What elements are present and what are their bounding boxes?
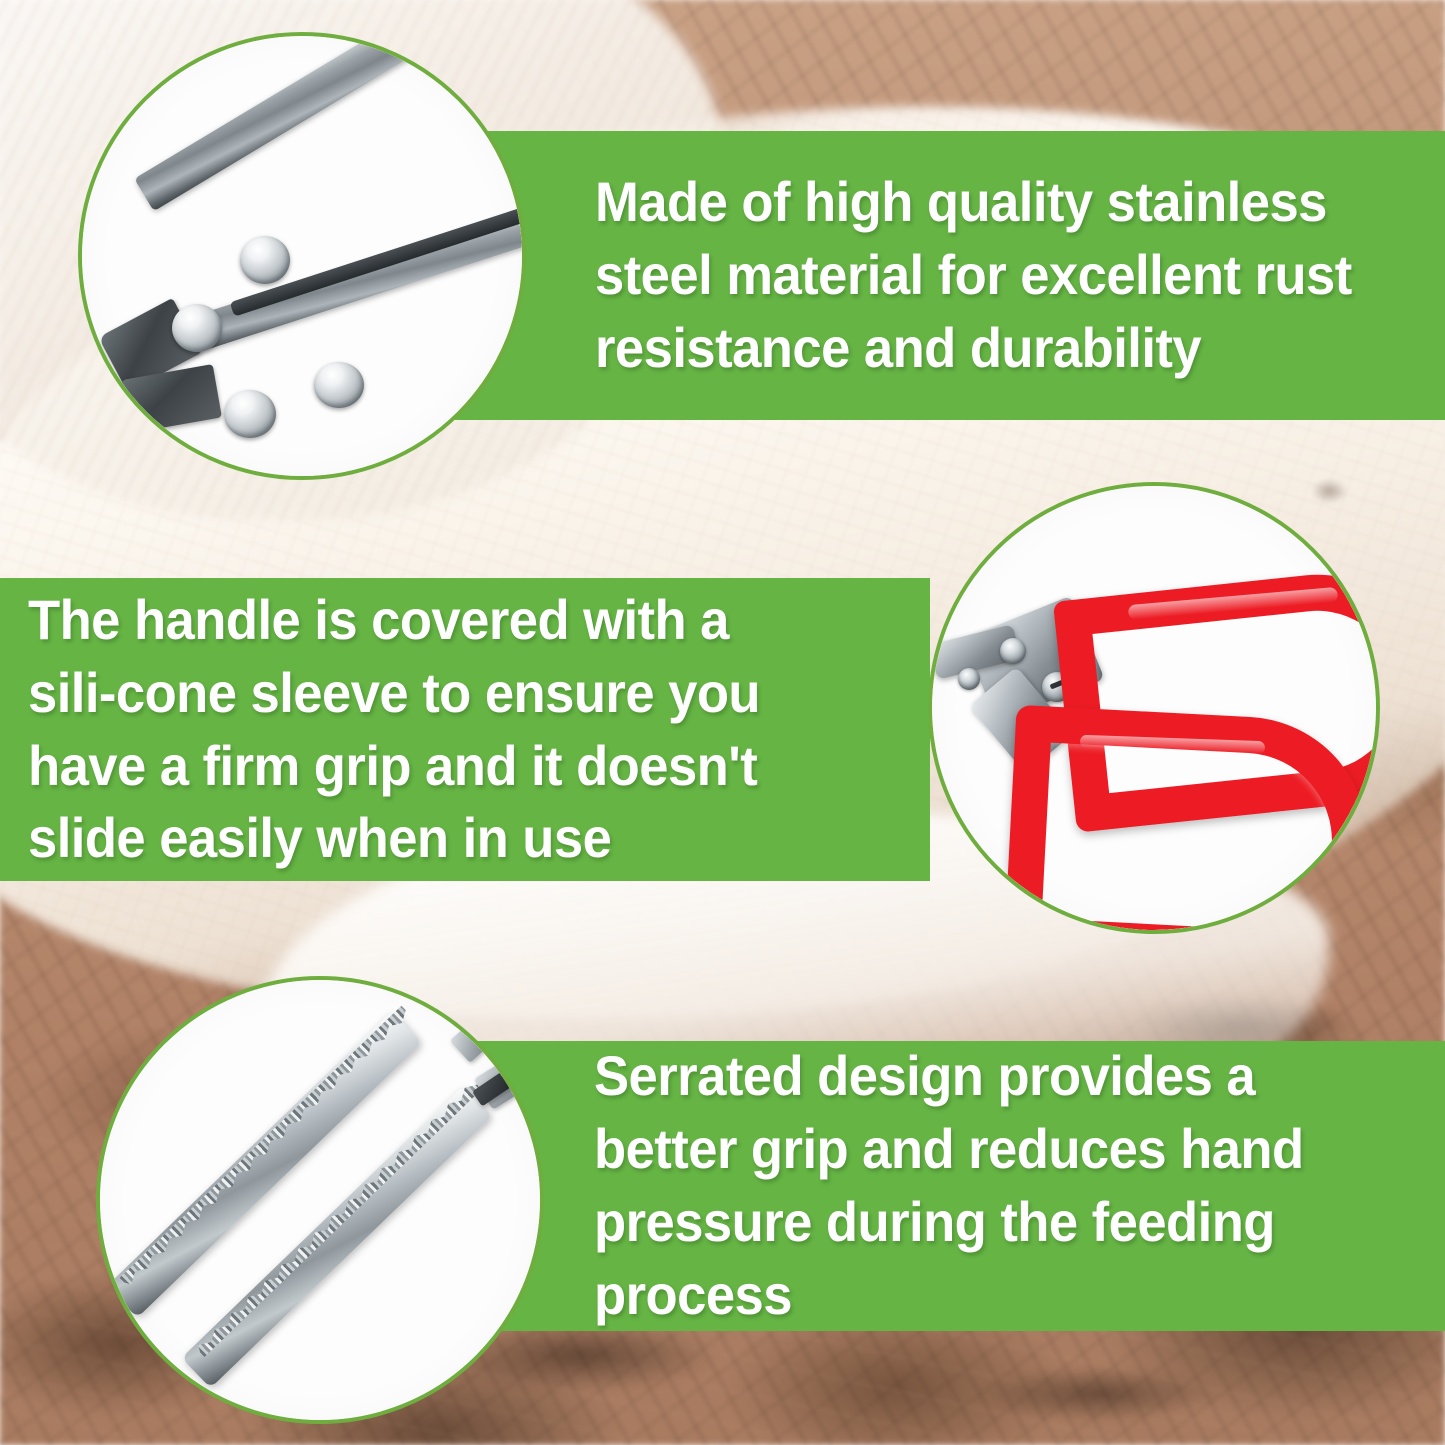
product-photo-inset-rivets	[78, 32, 526, 480]
rivet-three	[224, 390, 276, 438]
pivot-screw-three	[958, 668, 980, 690]
feature-text-material: Made of high quality stainless steel mat…	[595, 166, 1370, 384]
inset-photo-rivets	[82, 36, 522, 476]
serrated-arm-lower	[181, 1086, 492, 1389]
feature-banner-handle: The handle is covered with a sili-cone s…	[0, 578, 930, 881]
rivet-four	[314, 362, 364, 408]
rivet-one	[172, 304, 222, 352]
inset-photo-serrations	[100, 980, 540, 1420]
feature-banner-serrated: Serrated design provides a better grip a…	[452, 1041, 1445, 1331]
feature-banner-material: Made of high quality stainless steel mat…	[455, 131, 1445, 420]
serrated-arm-upper	[107, 1011, 422, 1318]
infographic-canvas: Made of high quality stainless steel mat…	[0, 0, 1445, 1445]
inset-photo-handles	[932, 486, 1376, 930]
serration-teeth-upper	[119, 1006, 410, 1288]
rivet-two	[240, 236, 290, 284]
product-photo-inset-serrations	[96, 976, 544, 1424]
feature-text-serrated: Serrated design provides a better grip a…	[594, 1040, 1366, 1331]
product-photo-inset-handles	[928, 482, 1380, 934]
feature-text-handle: The handle is covered with a sili-cone s…	[28, 584, 786, 875]
pivot-screw-one	[1000, 638, 1026, 664]
